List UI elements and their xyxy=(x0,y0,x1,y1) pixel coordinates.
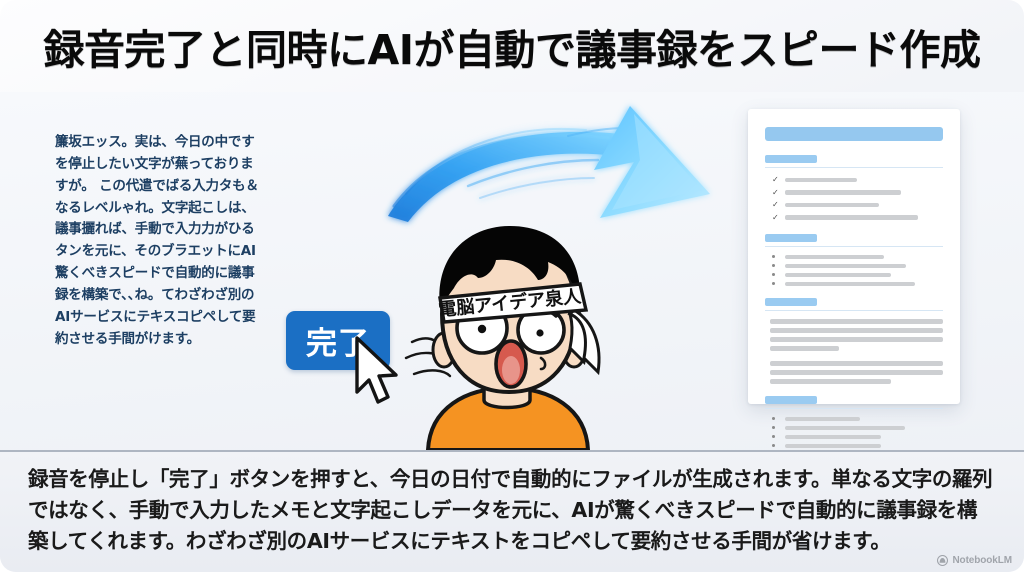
memo-text: 簾坂エッス。実は、今日の中ですを停止したい文字が蕪っておりますが。 この代遣でば… xyxy=(55,132,260,351)
check-icon: ✓ xyxy=(772,201,780,209)
notebooklm-logo-icon xyxy=(937,555,948,566)
list-item xyxy=(765,264,943,269)
list-item xyxy=(765,282,943,287)
document-paragraph xyxy=(765,319,943,351)
title-bar: 録音完了と同時にAIが自動で議事録をスピード作成 xyxy=(0,0,1024,92)
watermark: NotebookLM xyxy=(937,555,1012,566)
check-icon: ✓ xyxy=(772,176,780,184)
caption-text: 録音を停止し「完了」ボタンを押すと、今日の日付で自動的にファイルが生成されます。… xyxy=(28,464,996,557)
list-item xyxy=(765,435,943,440)
document-section-heading xyxy=(765,396,817,404)
caption-panel: 録音を停止し「完了」ボタンを押すと、今日の日付で自動的にファイルが生成されます。… xyxy=(0,452,1024,572)
document-section xyxy=(765,396,943,451)
document-section: ✓ ✓ ✓ ✓ xyxy=(765,155,943,222)
list-item: ✓ xyxy=(765,214,943,222)
page-title: 録音完了と同時にAIが自動で議事録をスピード作成 xyxy=(44,16,981,76)
list-item xyxy=(765,426,943,431)
document-section-heading xyxy=(765,155,817,163)
document-section-heading xyxy=(765,298,817,306)
list-item xyxy=(765,255,943,260)
document-rule xyxy=(765,408,943,409)
list-item xyxy=(765,417,943,422)
generated-document[interactable]: ✓ ✓ ✓ ✓ xyxy=(748,109,960,404)
bullet-icon xyxy=(772,264,775,267)
bullet-icon xyxy=(772,426,775,429)
bullet-icon xyxy=(772,255,775,258)
list-item: ✓ xyxy=(765,201,943,209)
list-item xyxy=(765,273,943,278)
watermark-label: NotebookLM xyxy=(952,555,1012,566)
check-icon: ✓ xyxy=(772,214,780,222)
check-icon: ✓ xyxy=(772,189,780,197)
bullet-icon xyxy=(772,444,775,447)
document-rule xyxy=(765,246,943,247)
list-item: ✓ xyxy=(765,176,943,184)
list-item xyxy=(765,444,943,449)
character-illustration: 電脳アイデア泉人 xyxy=(398,222,632,450)
bullet-icon xyxy=(772,282,775,285)
illustration-stage: 簾坂エッス。実は、今日の中ですを停止したい文字が蕪っておりますが。 この代遣でば… xyxy=(0,92,1024,450)
document-section-heading xyxy=(765,234,817,242)
document-rule xyxy=(765,310,943,311)
document-section xyxy=(765,234,943,287)
list-item: ✓ xyxy=(765,189,943,197)
bullet-icon xyxy=(772,417,775,420)
bullet-icon xyxy=(772,273,775,276)
slide-root: 録音完了と同時にAIが自動で議事録をスピード作成 簾坂エッス。実は、今日の中です… xyxy=(0,0,1024,572)
bullet-icon xyxy=(772,435,775,438)
document-paragraph xyxy=(765,361,943,384)
document-section xyxy=(765,298,943,384)
document-title-bar xyxy=(765,127,943,141)
document-rule xyxy=(765,167,943,168)
